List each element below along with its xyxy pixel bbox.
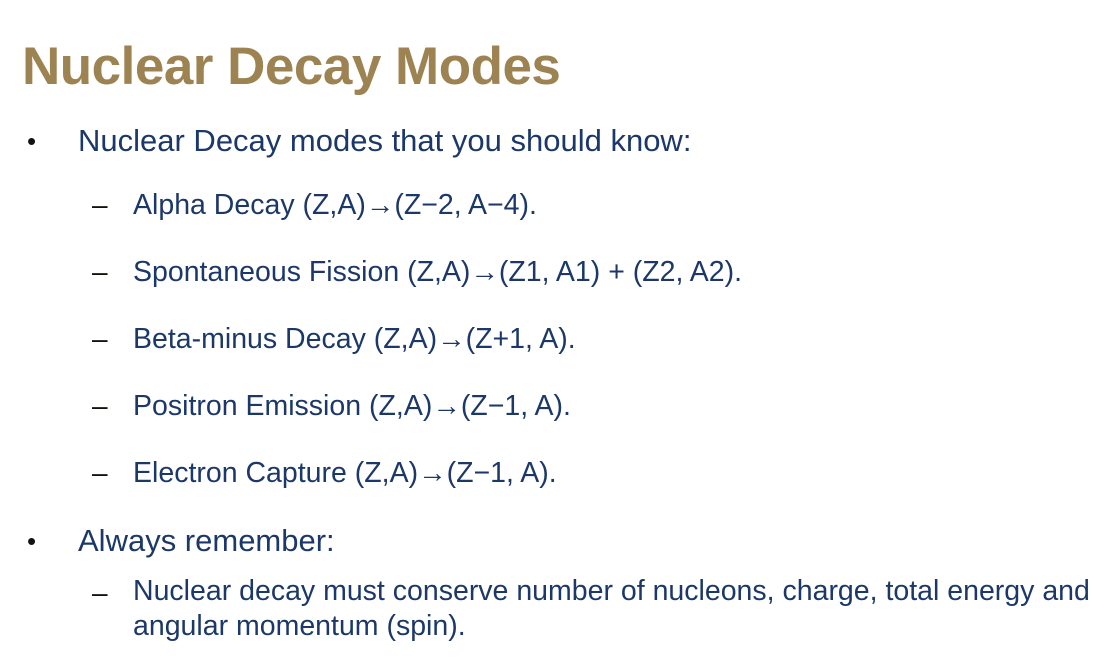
dash-icon: – xyxy=(92,454,118,492)
list-item: – Spontaneous Fission (Z,A)→(Z1, A1) + (… xyxy=(0,253,1118,291)
page-title: Nuclear Decay Modes xyxy=(22,38,560,96)
dash-icon: – xyxy=(92,387,118,425)
list-item-label: Electron Capture (Z,A)→(Z−1, A). xyxy=(133,454,1094,492)
list-item-label: Nuclear decay must conserve number of nu… xyxy=(133,574,1094,644)
list-item-label: Nuclear Decay modes that you should know… xyxy=(78,120,1118,162)
list-item-label: Spontaneous Fission (Z,A)→(Z1, A1) + (Z2… xyxy=(133,253,1094,291)
list-item-label: Alpha Decay (Z,A)→(Z−2, A−4). xyxy=(133,186,1094,224)
bullet-list: • Nuclear Decay modes that you should kn… xyxy=(0,120,1118,644)
spacer xyxy=(0,562,1118,574)
list-item: – Alpha Decay (Z,A)→(Z−2, A−4). xyxy=(0,186,1118,224)
spacer xyxy=(0,291,1118,320)
spacer xyxy=(0,224,1118,253)
dash-icon: – xyxy=(92,574,118,612)
dash-icon: – xyxy=(92,320,118,358)
list-item-label: Positron Emission (Z,A)→(Z−1, A). xyxy=(133,387,1094,425)
dash-icon: – xyxy=(92,186,118,224)
list-item: • Always remember: xyxy=(0,520,1118,562)
spacer xyxy=(0,162,1118,186)
bullet-dot-icon: • xyxy=(27,120,47,162)
list-item: – Positron Emission (Z,A)→(Z−1, A). xyxy=(0,387,1118,425)
list-item: – Beta-minus Decay (Z,A)→(Z+1, A). xyxy=(0,320,1118,358)
list-item: • Nuclear Decay modes that you should kn… xyxy=(0,120,1118,162)
list-item: – Electron Capture (Z,A)→(Z−1, A). xyxy=(0,454,1118,492)
dash-icon: – xyxy=(92,253,118,291)
bullet-dot-icon: • xyxy=(27,520,47,562)
spacer xyxy=(0,425,1118,454)
list-item-label: Beta-minus Decay (Z,A)→(Z+1, A). xyxy=(133,320,1094,358)
spacer xyxy=(0,492,1118,520)
list-item: – Nuclear decay must conserve number of … xyxy=(0,574,1118,644)
spacer xyxy=(0,358,1118,387)
list-item-label: Always remember: xyxy=(78,520,1118,562)
slide-canvas: Nuclear Decay Modes • Nuclear Decay mode… xyxy=(0,0,1118,663)
